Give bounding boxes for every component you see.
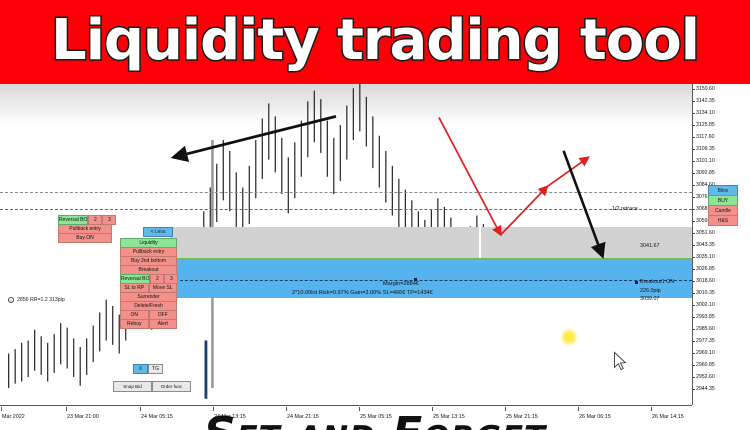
price-tick: 3010.35 (696, 290, 715, 296)
price-tick: 3026.85 (696, 266, 715, 272)
price-tick: 2977.35 (696, 338, 715, 344)
stoploss-row[interactable]: SL to RP Move SL (120, 283, 177, 293)
price-tick: 3109.35 (696, 146, 715, 152)
price-tick: 3043.35 (696, 242, 715, 248)
target-zone (170, 227, 692, 259)
reversal-bo-opt3-secondary[interactable]: 3 (102, 215, 116, 225)
chart-plot-area[interactable]: 1/2 retrace 3178 Margin=2884€ 2*10.00lot… (0, 84, 692, 405)
reversal-bo-row-secondary[interactable]: Reversal BO 2 3 (58, 215, 112, 225)
alert-button[interactable]: Alert (149, 319, 178, 329)
xtg-row[interactable]: X TG (133, 364, 163, 374)
price-tick: 3018.60 (696, 278, 715, 284)
page-title: Liquidity trading tool (0, 9, 750, 73)
cursor-highlight (560, 328, 578, 346)
snap-order-row[interactable]: Snap Bid Order func (113, 381, 191, 392)
reversal-bo-opt2-secondary[interactable]: 2 (88, 215, 102, 225)
price-tick: 2993.85 (696, 314, 715, 320)
move-sl-button[interactable]: Move SL (149, 283, 178, 293)
upper-dashed-level (0, 192, 692, 193)
breakout-status-label: Breakout1 ON (640, 279, 674, 286)
pips-label: 226.0pip (640, 288, 661, 295)
rebuy-button[interactable]: Rebuy (120, 319, 149, 329)
entry-dashed-level (170, 280, 692, 281)
price-tick: 3150.60 (696, 86, 715, 92)
price-tick: 2985.60 (696, 326, 715, 332)
price-axis[interactable]: 3150.60 3142.35 3134.10 3125.85 3117.60 … (692, 84, 750, 405)
price-tick: 3134.10 (696, 110, 715, 116)
price-tick: 3002.10 (696, 302, 715, 308)
snap-order-toolbar[interactable]: Snap Bid Order func (113, 382, 191, 392)
telegram-button[interactable]: TG (148, 364, 163, 374)
trade-info-line: i2856 RR=1.2 313pip (8, 296, 65, 304)
trading-chart[interactable]: 1/2 retrace 3178 Margin=2884€ 2*10.00lot… (0, 84, 750, 430)
less-toggle-wrapper[interactable]: < Less (143, 228, 173, 237)
chart-tool-buttons[interactable]: Bilox BUY Candle H&S (708, 186, 738, 226)
price-tick: 2960.85 (696, 362, 715, 368)
price-tick: 2952.60 (696, 374, 715, 380)
xtg-toolbar[interactable]: X TG (133, 365, 163, 374)
price-tick: 3035.10 (696, 254, 715, 260)
hs-button[interactable]: H&S (708, 215, 738, 226)
price-tick: 3142.35 (696, 98, 715, 104)
tp-price-label: 3041.67 (640, 243, 660, 250)
tagline-text: Set and Forget (0, 408, 750, 430)
reversal-bo-button-secondary[interactable]: Reversal BO (58, 215, 88, 225)
target-zone-divider (479, 227, 481, 259)
sl-to-rp-button[interactable]: SL to RP (120, 283, 149, 293)
secondary-order-panel[interactable]: Reversal BO 2 3 Pullback entry Buy ON (58, 216, 112, 243)
retrace-dashed-level (0, 209, 692, 210)
less-button[interactable]: < Less (143, 227, 173, 237)
snap-bid-button[interactable]: Snap Bid (113, 381, 152, 392)
price-tick: 3051.60 (696, 230, 715, 236)
order-info-line: 2*10.00lot Risk=0.97% Gain=3.00% SL=466€… (292, 289, 433, 297)
close-x-button[interactable]: X (133, 364, 148, 374)
order-func-button[interactable]: Order func (152, 381, 191, 392)
price-tick: 2969.10 (696, 350, 715, 356)
rebuy-alert-row[interactable]: Rebuy Alert (120, 319, 177, 329)
margin-label: Margin=2884€ (383, 280, 419, 288)
screenshot-root: Liquidity trading tool (0, 0, 750, 430)
title-banner: Liquidity trading tool (0, 0, 750, 84)
info-icon: i (8, 297, 14, 303)
retrace-label: 1/2 retrace (612, 206, 638, 213)
price-tick: 3117.60 (696, 134, 714, 140)
buy-on-button-secondary[interactable]: Buy ON (58, 233, 112, 243)
entry-price-label: 3039.07 (640, 296, 660, 303)
liquidity-order-panel[interactable]: Liquidity Pullback entry Buy 2nd bottom … (120, 239, 177, 329)
price-tick: 3125.85 (696, 122, 715, 128)
price-tick: 3092.85 (696, 170, 715, 176)
trade-info-text: 2856 RR=1.2 313pip (17, 297, 65, 303)
price-tick: 3101.10 (696, 158, 715, 164)
price-tick: 2944.35 (696, 386, 715, 392)
